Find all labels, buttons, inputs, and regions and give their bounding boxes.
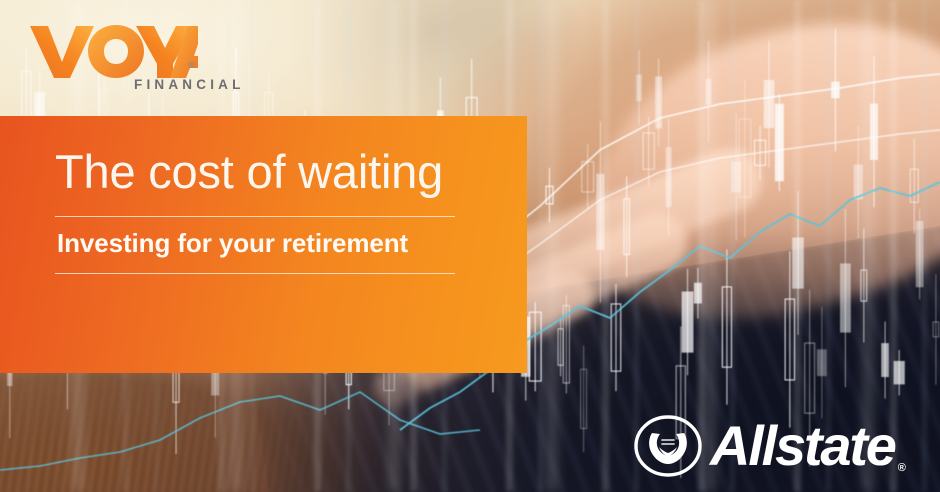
good-hands-icon (632, 410, 704, 482)
headline-panel: The cost of waiting Investing for your r… (0, 116, 527, 373)
allstate-wordmark: Allstate (710, 418, 895, 474)
marketing-banner: ® FINANCIAL The cost of waiting Investin… (0, 0, 940, 492)
voya-logo: ® FINANCIAL (28, 22, 198, 80)
voya-subtitle: FINANCIAL (134, 77, 245, 92)
divider-bottom (55, 273, 455, 274)
allstate-registered-mark: ® (898, 462, 906, 474)
headline-panel-content: The cost of waiting Investing for your r… (55, 148, 455, 274)
page-title: The cost of waiting (55, 148, 455, 197)
voya-wordmark-icon (28, 22, 198, 80)
voya-registered-mark: ® (188, 60, 195, 70)
allstate-logo: Allstate ® (632, 410, 906, 482)
page-subtitle: Investing for your retirement (55, 217, 455, 256)
